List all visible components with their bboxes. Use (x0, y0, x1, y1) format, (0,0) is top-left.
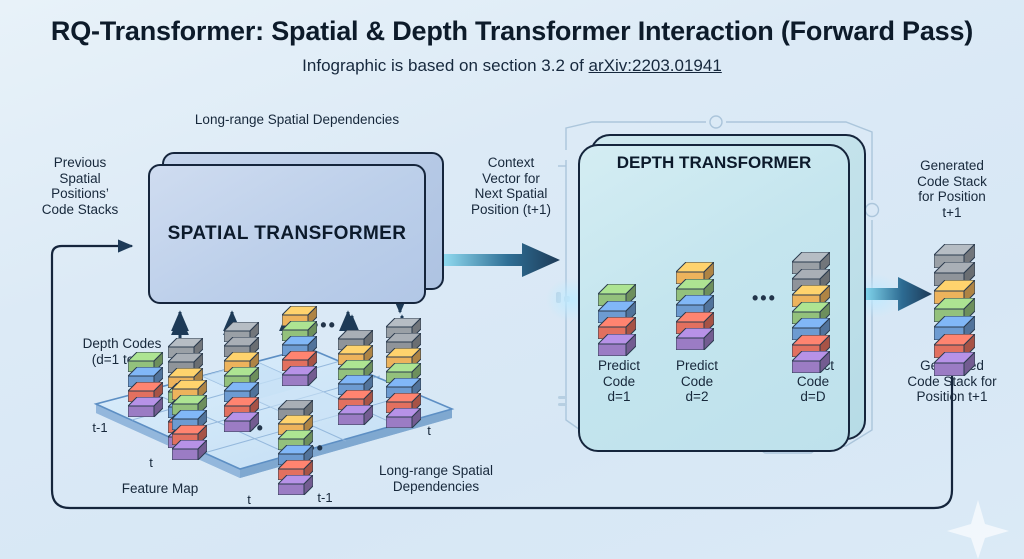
feature-map-code-stack-5 (278, 400, 313, 490)
feature-map-code-stack-3 (224, 322, 259, 427)
feature-map-code-stack-0 (128, 352, 163, 412)
feature-map-code-stack-4 (282, 306, 317, 381)
feature-map-code-stack-6 (338, 330, 373, 420)
feature-map-code-stack-2 (172, 380, 207, 455)
generated-code-stack (934, 244, 975, 370)
infographic-canvas: RQ-Transformer: Spatial & Depth Transfor… (0, 0, 1024, 559)
code-stacks-layer (0, 0, 1024, 559)
feature-map-code-stack-7 (386, 318, 421, 423)
depth-step-stack-1 (598, 284, 636, 350)
depth-step-stack-3 (792, 252, 830, 368)
depth-step-stack-2 (676, 262, 714, 345)
